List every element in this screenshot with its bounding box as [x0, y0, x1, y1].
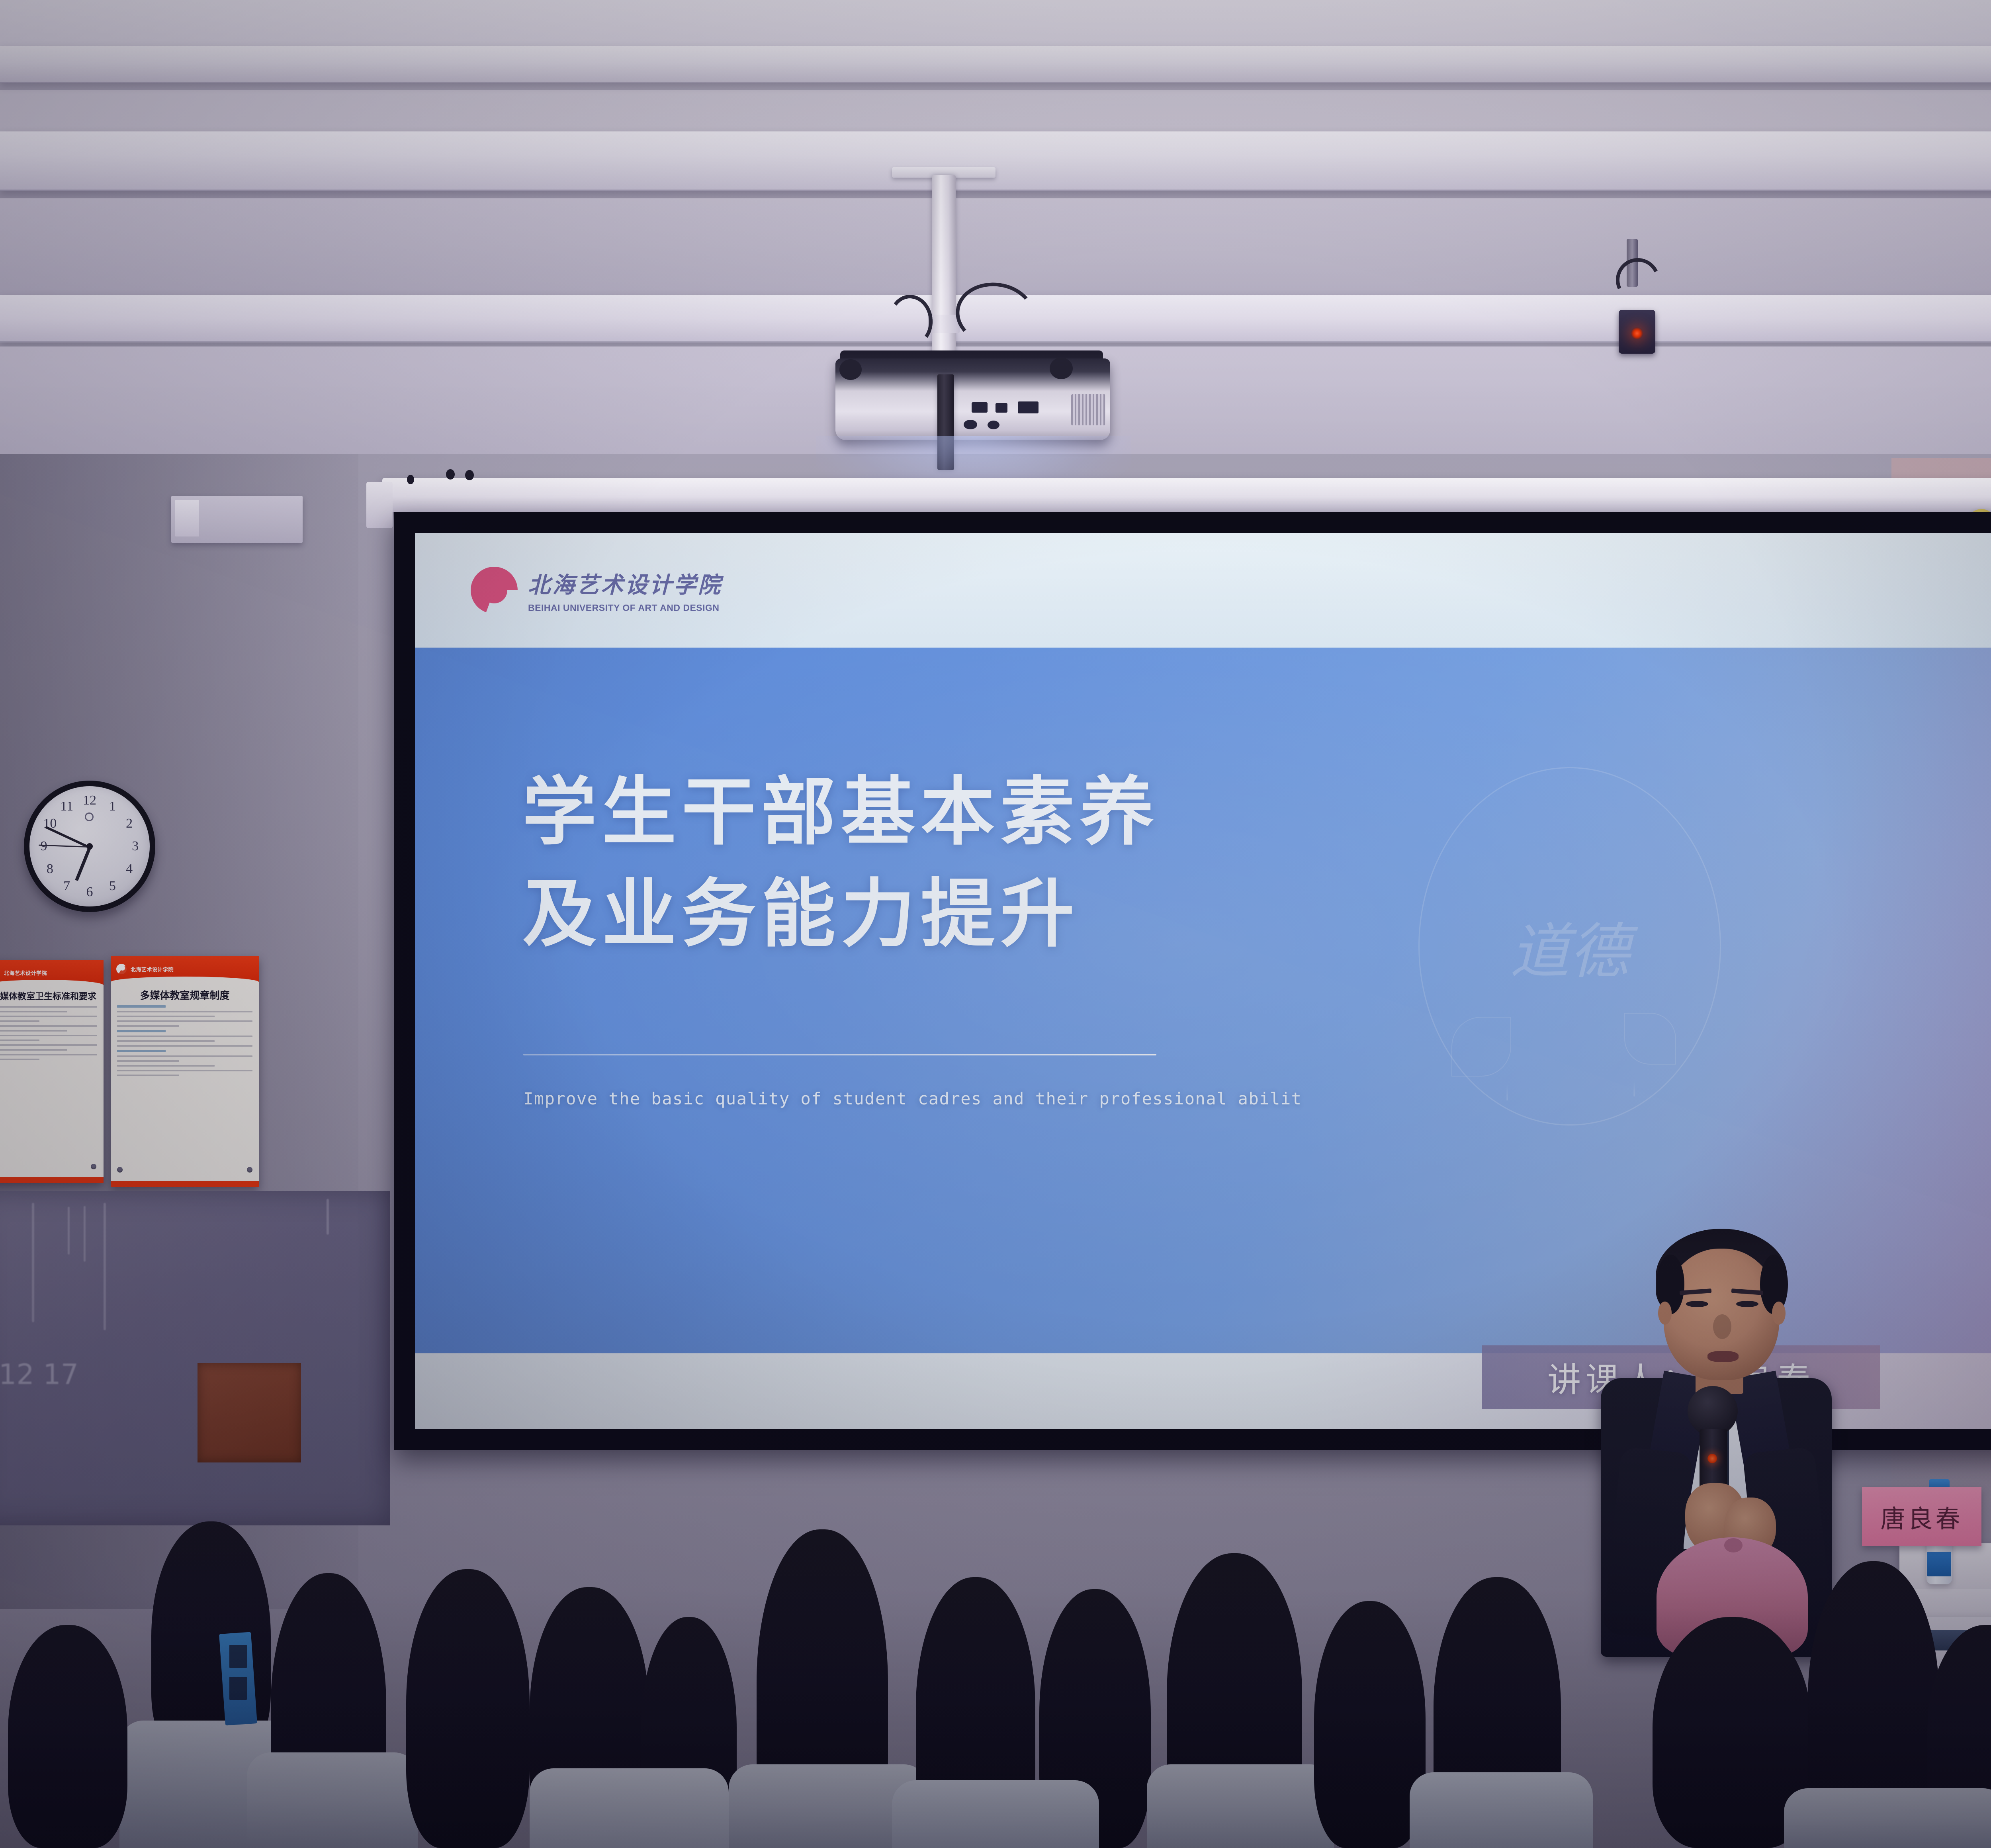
speaker-ear-left — [1658, 1302, 1672, 1325]
projector-knob-left — [839, 359, 862, 380]
notice-right-header: 北海艺术设计学院 — [111, 956, 259, 982]
clock-numeral-12: 12 — [83, 793, 96, 808]
projection-screen-casing[interactable] — [382, 478, 1991, 512]
slide-subtitle: Improve the basic quality of student cad… — [523, 1089, 1302, 1108]
slide-header: 北海艺术设计学院 BEIHAI UNIVERSITY OF ART AND DE… — [415, 533, 1991, 648]
notice-right-logo-icon — [116, 964, 127, 974]
projector-vent — [1071, 394, 1105, 425]
speaker-name-card: 唐良春 — [1862, 1487, 1981, 1546]
audience-shoulders-3 — [247, 1752, 418, 1848]
clock-numeral-4: 4 — [126, 861, 133, 877]
audience-head-2 — [8, 1625, 127, 1848]
notice-left-title: 多媒体教室卫生标准和要求 — [0, 991, 104, 1003]
slide-divider-rule — [523, 1054, 1156, 1055]
projector-drop-rod — [937, 374, 954, 470]
notice-board-left: 北海艺术设计学院 多媒体教室卫生标准和要求 — [0, 960, 104, 1183]
clock-numeral-11: 11 — [60, 799, 73, 814]
blackboard: 8 12 17 — [0, 1191, 390, 1525]
audience-shoulders-10 — [1147, 1764, 1334, 1848]
slide-watermark: 道德 — [1418, 767, 1721, 1126]
blackboard-panel — [198, 1363, 301, 1462]
projector-port-c — [1018, 401, 1039, 413]
projector-port-a — [972, 402, 988, 413]
ceiling-beam-1 — [0, 46, 1991, 83]
blackboard-chalk-text: 8 12 17 — [0, 1358, 78, 1391]
lecture-hall-scene: 12 1 2 3 4 5 6 7 8 9 10 11 北海艺术设计学院 多媒体教… — [0, 0, 1991, 1848]
notice-left-header: 北海艺术设计学院 — [0, 960, 104, 985]
notice-right-title: 多媒体教室规章制度 — [111, 988, 259, 1002]
clock-numeral-1: 1 — [109, 799, 116, 814]
audience-shoulders-8 — [892, 1780, 1099, 1848]
hair-clip-slot-top — [229, 1645, 247, 1668]
projector-knob-right — [1050, 358, 1073, 379]
clock-brand-mark — [85, 812, 94, 821]
clock-numeral-6: 6 — [86, 885, 93, 900]
clock-center-pin — [86, 843, 93, 850]
audience-cap-button — [1724, 1538, 1743, 1552]
speaker-eye-left — [1686, 1301, 1708, 1307]
brand-name-en: BEIHAI UNIVERSITY OF ART AND DESIGN — [528, 603, 722, 613]
speaker-name-card-text: 唐良春 — [1880, 1499, 1963, 1535]
audience-head-11 — [1314, 1601, 1426, 1848]
ceiling-slab-top — [0, 0, 1991, 47]
clock-numeral-5: 5 — [109, 879, 116, 894]
notice-right-screw-left — [117, 1167, 123, 1173]
screen-casing-bolt-b — [465, 470, 474, 480]
hair-clip-slot-bottom — [229, 1677, 247, 1700]
beihai-swirl-logo-icon — [471, 567, 518, 614]
ceiling-beam-1-shadow — [0, 82, 1991, 90]
wall-clock: 12 1 2 3 4 5 6 7 8 9 10 11 — [24, 781, 155, 912]
clock-numeral-3: 3 — [132, 839, 139, 854]
screen-casing-end-left — [366, 482, 393, 528]
ceiling-beam-2 — [0, 131, 1991, 191]
clock-numeral-2: 2 — [126, 816, 133, 831]
speaker-eye-right — [1736, 1301, 1758, 1307]
brand-name-cn: 北海艺术设计学院 — [528, 567, 722, 599]
bottle-label — [1927, 1552, 1951, 1576]
notice-left-footer — [0, 1177, 104, 1183]
clock-hour-hand — [75, 848, 91, 881]
audience-shoulders-12 — [1410, 1772, 1593, 1848]
notice-left-header-text: 北海艺术设计学院 — [4, 969, 47, 977]
notice-left-body — [0, 1003, 104, 1060]
notice-left-screw — [91, 1164, 96, 1169]
audience-shoulders-14 — [1784, 1788, 1991, 1848]
speaker-nose — [1713, 1314, 1731, 1339]
clock-numeral-7: 7 — [63, 879, 70, 894]
notice-right-body — [111, 1002, 259, 1076]
notice-board-right: 北海艺术设计学院 多媒体教室规章制度 — [111, 956, 259, 1187]
projector-port-d — [964, 420, 977, 429]
notice-right-footer — [111, 1181, 259, 1187]
audience-head-4 — [406, 1569, 530, 1848]
projector-port-b — [995, 403, 1007, 413]
clock-numeral-9: 9 — [41, 839, 47, 854]
speaker-ear-right — [1772, 1302, 1786, 1325]
sensor-status-led — [1631, 327, 1643, 339]
clock-numeral-8: 8 — [47, 861, 53, 877]
audience-shoulders-5 — [530, 1768, 729, 1848]
projector-port-e — [988, 421, 999, 429]
handheld-mic-led — [1707, 1454, 1717, 1463]
watermark-characters: 道德 — [1510, 903, 1629, 990]
notice-right-header-text: 北海艺术设计学院 — [131, 965, 174, 973]
slide-title-line-1: 学生干部基本素养 — [522, 767, 1160, 857]
notice-right-screw-right — [247, 1167, 252, 1173]
brand-logo: 北海艺术设计学院 BEIHAI UNIVERSITY OF ART AND DE… — [471, 567, 722, 614]
ceiling-beam-2-shadow — [0, 190, 1991, 199]
speaker-mouth — [1707, 1351, 1739, 1362]
slide-title-line-2: 及业务能力提升 — [522, 869, 1080, 959]
screen-casing-bolt-c — [407, 475, 414, 484]
screen-casing-bolt-a — [446, 469, 455, 480]
wall-box-bracket — [175, 500, 199, 536]
